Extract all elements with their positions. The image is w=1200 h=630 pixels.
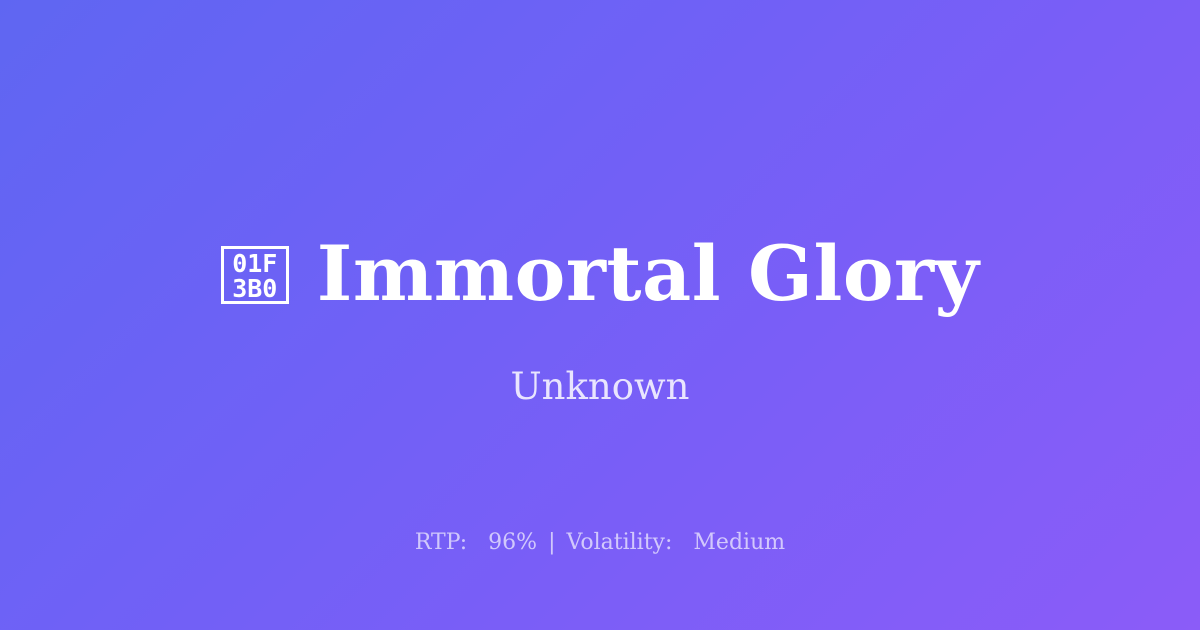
volatility-value: Medium: [693, 530, 785, 555]
volatility-label: Volatility:: [567, 530, 673, 555]
tofu-codepoint-line-1: 01F: [232, 251, 277, 276]
game-title: Immortal Glory: [317, 234, 979, 314]
rtp-value: 96%: [488, 530, 537, 555]
tofu-codepoint-line-2: 3B0: [232, 276, 277, 301]
game-og-card: 01F 3B0 Immortal Glory Unknown RTP: 96% …: [0, 0, 1200, 630]
title-row: 01F 3B0 Immortal Glory: [0, 228, 1200, 320]
stats-separator: |: [544, 530, 559, 555]
rtp-label: RTP:: [415, 530, 467, 555]
slot-machine-icon: 01F 3B0: [221, 246, 289, 304]
game-stats: RTP: 96% | Volatility: Medium: [0, 528, 1200, 558]
game-provider: Unknown: [0, 363, 1200, 411]
